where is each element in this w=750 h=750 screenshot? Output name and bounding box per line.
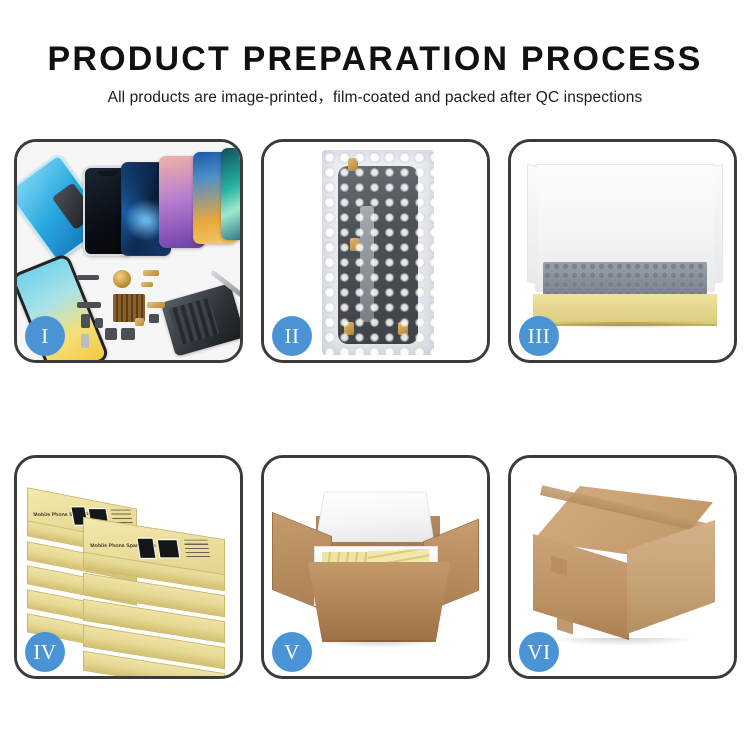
spare-part-speaker — [121, 328, 135, 340]
process-step-panel-2[interactable]: II — [261, 139, 490, 363]
adhesive-tab-middle — [350, 238, 360, 251]
step-badge-2: II — [272, 316, 312, 356]
bubble-wrapped-contents — [543, 262, 707, 298]
process-step-panel-1[interactable]: I — [14, 139, 243, 363]
carton-body — [308, 562, 450, 642]
process-step-grid: I II III — [14, 139, 736, 679]
adhesive-tab-top — [348, 158, 358, 171]
spare-part-flex-2 — [147, 302, 165, 308]
retail-box-spec-lines-right — [184, 540, 211, 558]
spare-part-chip-4 — [135, 318, 144, 326]
process-step-panel-6[interactable]: VI — [508, 455, 737, 679]
vibration-motor-part — [113, 270, 131, 288]
page-header: PRODUCT PREPARATION PROCESS All products… — [0, 0, 750, 108]
foam-box-lid — [316, 492, 435, 542]
step-badge-6: VI — [519, 632, 559, 672]
inner-box-shadow — [537, 322, 715, 329]
phone-display-teal — [221, 148, 240, 240]
spare-part-sim-tray — [81, 334, 89, 348]
spare-part-camera — [105, 328, 117, 340]
lcd-screen-assembly — [338, 166, 418, 344]
bubble-wrap-bag — [322, 150, 434, 355]
retail-box-window-right-2 — [157, 539, 181, 558]
process-step-panel-4[interactable]: Mobile Phone Spare Parts Mobile Phone Sp… — [14, 455, 243, 679]
spare-part-strip-1 — [77, 275, 99, 280]
retail-box-window-right-1 — [136, 538, 156, 559]
page-subtitle: All products are image-printed，film-coat… — [0, 78, 750, 108]
spare-part-chip-3 — [149, 314, 159, 323]
process-step-panel-3[interactable]: III — [508, 139, 737, 363]
spare-part-chip-2 — [95, 318, 103, 328]
step-badge-4: IV — [25, 632, 65, 672]
step-badge-1: I — [25, 316, 65, 356]
page-title: PRODUCT PREPARATION PROCESS — [0, 0, 750, 78]
spare-part-flex-1 — [77, 302, 101, 308]
spare-part-connector-1 — [143, 270, 159, 276]
adhesive-tab-bottom-right — [398, 322, 408, 335]
step-badge-5: V — [272, 632, 312, 672]
spare-part-connector-2 — [141, 282, 153, 287]
process-step-panel-5[interactable]: V — [261, 455, 490, 679]
carton-shadow — [316, 640, 442, 648]
step-badge-3: III — [519, 316, 559, 356]
adhesive-tab-bottom-left — [344, 322, 354, 335]
sealed-carton-shadow — [547, 638, 699, 646]
spare-part-chip-1 — [81, 314, 90, 328]
